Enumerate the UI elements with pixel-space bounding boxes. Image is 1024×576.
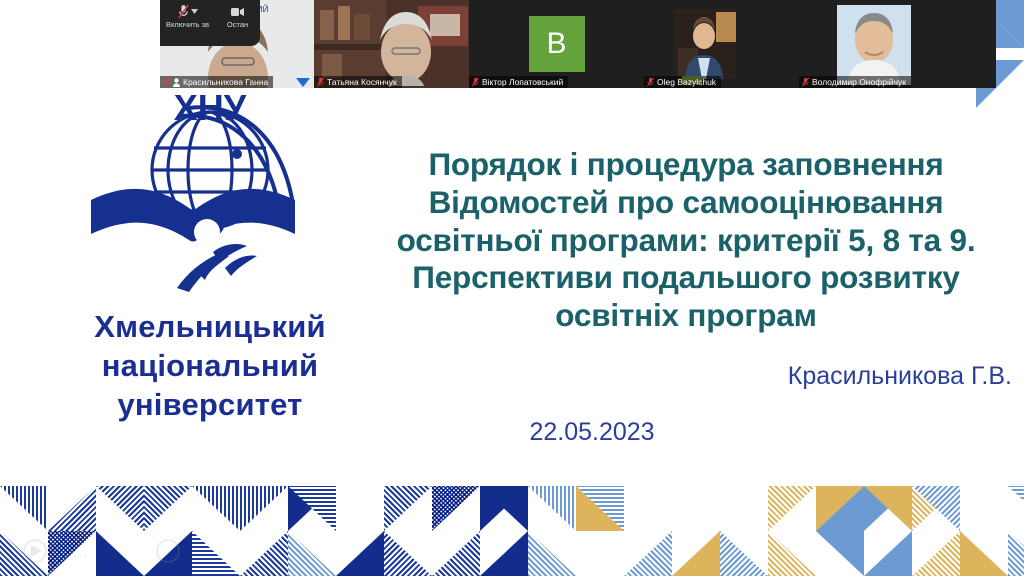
participant-name: Віктор Лопатовський [482, 77, 563, 87]
university-logo-block: ХНУ Хмельницький національний університе… [60, 92, 360, 424]
participant-video [799, 0, 954, 88]
slide-author: Красильникова Г.В. [352, 362, 1012, 391]
slide-date: 22.05.2023 [352, 418, 832, 447]
participant-video-frame [799, 0, 954, 88]
participant-tile[interactable]: В Віктор Лопатовський [469, 0, 644, 88]
microphone-muted-icon [178, 4, 189, 19]
participant-name: Oleg Bazylchuk [657, 77, 716, 87]
microphone-muted-icon [802, 77, 809, 87]
participant-name-bar: Oleg Bazylchuk [644, 76, 721, 88]
presentation-slide: ХНУ Хмельницький національний університе… [0, 0, 1024, 576]
microphone-muted-icon [163, 77, 170, 87]
chevron-down-icon[interactable] [296, 78, 310, 87]
unmute-label: Включить зв [166, 20, 209, 29]
participant-video [314, 0, 469, 88]
microphone-muted-icon [317, 77, 324, 87]
participant-name-bar: Татьяна Косянчук [314, 76, 402, 88]
hnu-logo-icon: ХНУ [81, 92, 339, 302]
university-name: Хмельницький національний університет [60, 308, 360, 424]
person-icon [173, 78, 180, 87]
participant-name-bar: Володимир Онофрійчук [799, 76, 911, 88]
video-camera-icon [231, 7, 244, 17]
participant-name: Татьяна Косянчук [327, 77, 397, 87]
microphone-muted-icon [647, 77, 654, 87]
slide-title: Порядок і процедура заповнення Відомосте… [352, 146, 1020, 335]
logo-acronym: ХНУ [174, 92, 247, 128]
participant-video [644, 0, 799, 88]
stop-video-label: Остан [227, 20, 248, 29]
unmute-button[interactable]: Включить зв [160, 0, 215, 29]
participant-name-bar: Красильникова Ганна [160, 76, 273, 88]
university-name-line-2: національний [60, 347, 360, 386]
zoom-participant-strip[interactable]: НАЦІОНАЛЬНИЙ УНІВЕРСИТЕТ [160, 0, 996, 88]
chevron-up-icon[interactable] [191, 9, 198, 14]
participant-avatar: В [469, 0, 644, 88]
participant-tile[interactable]: Володимир Онофрійчук [799, 0, 954, 88]
participant-video-frame [314, 0, 469, 88]
decorative-pattern-bottom [0, 486, 1024, 576]
participant-name: Красильникова Ганна [183, 77, 268, 87]
participant-name-bar: Віктор Лопатовський [469, 76, 568, 88]
participant-tile[interactable]: Татьяна Косянчук [314, 0, 469, 88]
stop-video-button[interactable]: Остан [215, 0, 260, 29]
zoom-toolbar[interactable]: Включить зв Остан [160, 0, 260, 46]
university-name-line-1: Хмельницький [60, 308, 360, 347]
university-name-line-3: університет [60, 386, 360, 425]
participant-video-frame [644, 0, 799, 88]
avatar-initial: В [529, 16, 585, 72]
participant-name: Володимир Онофрійчук [812, 77, 906, 87]
participant-tile[interactable]: Oleg Bazylchuk [644, 0, 799, 88]
microphone-muted-icon [472, 77, 479, 87]
